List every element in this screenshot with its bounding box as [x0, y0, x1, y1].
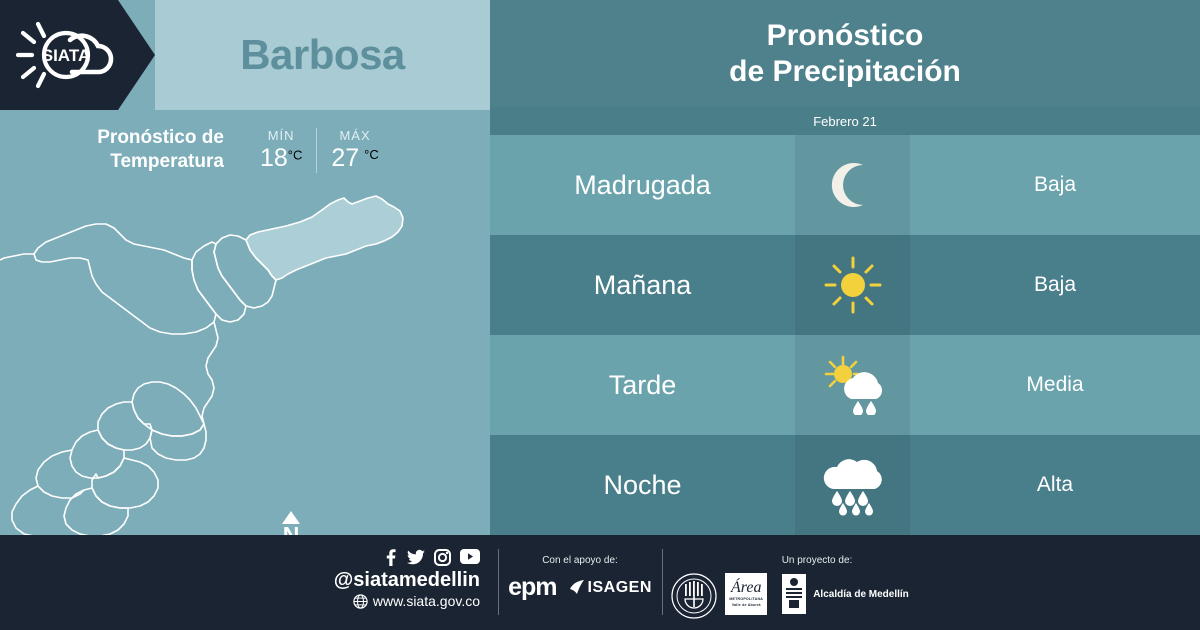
epm-logo: epm	[508, 573, 556, 602]
table-row[interactable]: Mañana	[490, 235, 1200, 335]
sun-icon	[823, 255, 883, 315]
city-header: Barbosa	[155, 0, 490, 110]
temperature-max-value: 27	[331, 144, 359, 172]
map-region-caldas	[64, 488, 128, 535]
map-region-edge-west	[36, 450, 84, 498]
sun-rain-cloud-icon	[821, 355, 885, 415]
temperature-title: Pronóstico de Temperatura	[97, 126, 224, 174]
map-region-barbosa	[246, 196, 403, 280]
alcaldia-name: Alcaldía de Medellín	[813, 589, 909, 600]
temperature-min-unit: °C	[288, 147, 303, 162]
forecast-level: Baja	[910, 173, 1200, 197]
udem-seal	[668, 573, 720, 624]
project-caption: Un proyecto de:	[722, 555, 912, 566]
forecast-header: Pronóstico de Precipitación	[490, 0, 1200, 107]
temperature-max-unit: °C	[364, 147, 379, 162]
footer: @siatamedellin www.siata.gov.co Con el a…	[0, 535, 1200, 630]
amva-logo: Área METROPOLITANA Valle de Aburrá	[725, 573, 767, 615]
social-handle[interactable]: @siatamedellin	[300, 568, 480, 592]
temperature-title-line2: Temperatura	[97, 150, 224, 174]
table-row[interactable]: Noche Alta	[490, 435, 1200, 535]
isagen-text: ISAGEN	[588, 579, 652, 597]
isagen-logo: ISAGEN	[569, 579, 652, 597]
table-row[interactable]: Madrugada Baja	[490, 135, 1200, 235]
isagen-mark-icon	[569, 580, 585, 595]
website-line[interactable]: www.siata.gov.co	[300, 593, 480, 609]
siata-logo-block: SIATA	[0, 0, 155, 110]
forecast-period: Tarde	[490, 370, 795, 401]
map-region-edge-north	[0, 254, 34, 260]
forecast-date: Febrero 21	[813, 114, 877, 129]
infographic-canvas: SIATA Barbosa Pronóstico de Temperatura …	[0, 0, 1200, 630]
amva-subtitle-2: Valle de Aburrá	[732, 604, 761, 608]
map-region-medellin-north	[202, 322, 218, 424]
university-seal-icon	[671, 573, 717, 619]
heavy-rain-cloud-icon	[819, 453, 887, 517]
twitter-icon[interactable]	[407, 549, 425, 566]
support-caption: Con el apoyo de:	[500, 555, 660, 566]
map-svg	[0, 180, 490, 535]
left-panel: SIATA Barbosa Pronóstico de Temperatura …	[0, 0, 490, 535]
forecast-icon-cell	[795, 335, 910, 435]
project-block: Un proyecto de: Área METROPOLITANA Valle…	[722, 555, 912, 615]
forecast-rows: Madrugada Baja Mañana	[490, 135, 1200, 535]
table-row[interactable]: Tarde	[490, 335, 1200, 435]
city-name: Barbosa	[240, 31, 405, 79]
social-icons	[300, 549, 480, 566]
map-region-medellin	[132, 382, 204, 436]
website-url: www.siata.gov.co	[373, 593, 480, 609]
globe-icon	[353, 594, 368, 609]
forecast-level: Media	[910, 373, 1200, 397]
social-block: @siatamedellin www.siata.gov.co	[300, 549, 480, 609]
temperature-max: MÁX 27°C	[317, 128, 392, 173]
amva-name: Área	[731, 580, 762, 596]
temperature-min-value: 18	[260, 144, 288, 172]
temperature-max-label: MÁX	[331, 128, 378, 143]
youtube-icon[interactable]	[460, 549, 480, 564]
map-region-copacabana	[192, 242, 246, 322]
temperature-min: MÍN 18°C	[246, 128, 317, 173]
map-region-bello	[34, 224, 216, 334]
alcaldia-logo: Alcaldía de Medellín	[781, 573, 909, 615]
forecast-title: Pronóstico de Precipitación	[729, 18, 961, 89]
forecast-title-line2: de Precipitación	[729, 54, 961, 89]
map-region-la-estrella	[92, 458, 158, 508]
forecast-date-band: Febrero 21	[490, 107, 1200, 135]
forecast-period: Noche	[490, 470, 795, 501]
forecast-period: Madrugada	[490, 170, 795, 201]
forecast-icon-cell	[795, 135, 910, 235]
map-region-envigado	[150, 424, 206, 460]
map-region-edge-southwest	[12, 486, 38, 535]
precipitation-panel: Pronóstico de Precipitación Febrero 21 M…	[490, 0, 1200, 535]
valle-de-aburra-map: N	[0, 180, 490, 535]
forecast-icon-cell	[795, 435, 910, 535]
forecast-level: Alta	[910, 473, 1200, 497]
siata-logo-text: SIATA	[42, 46, 90, 65]
temperature-summary: Pronóstico de Temperatura MÍN 18°C MÁX 2…	[0, 120, 490, 180]
footer-divider-2	[662, 549, 663, 615]
alcaldia-crest-icon	[781, 573, 807, 615]
footer-divider-1	[498, 549, 499, 615]
temperature-title-line1: Pronóstico de	[97, 126, 224, 150]
forecast-period: Mañana	[490, 270, 795, 301]
forecast-title-line1: Pronóstico	[729, 18, 961, 53]
facebook-icon[interactable]	[383, 549, 398, 566]
instagram-icon[interactable]	[434, 549, 451, 566]
forecast-icon-cell	[795, 235, 910, 335]
moon-icon	[825, 157, 881, 213]
sun-cloud-icon: SIATA	[14, 18, 119, 92]
sponsors-block: Con el apoyo de: epm ISAGEN	[500, 555, 660, 602]
amva-subtitle-1: METROPOLITANA	[729, 598, 763, 602]
forecast-level: Baja	[910, 273, 1200, 297]
temperature-min-label: MÍN	[260, 128, 302, 143]
